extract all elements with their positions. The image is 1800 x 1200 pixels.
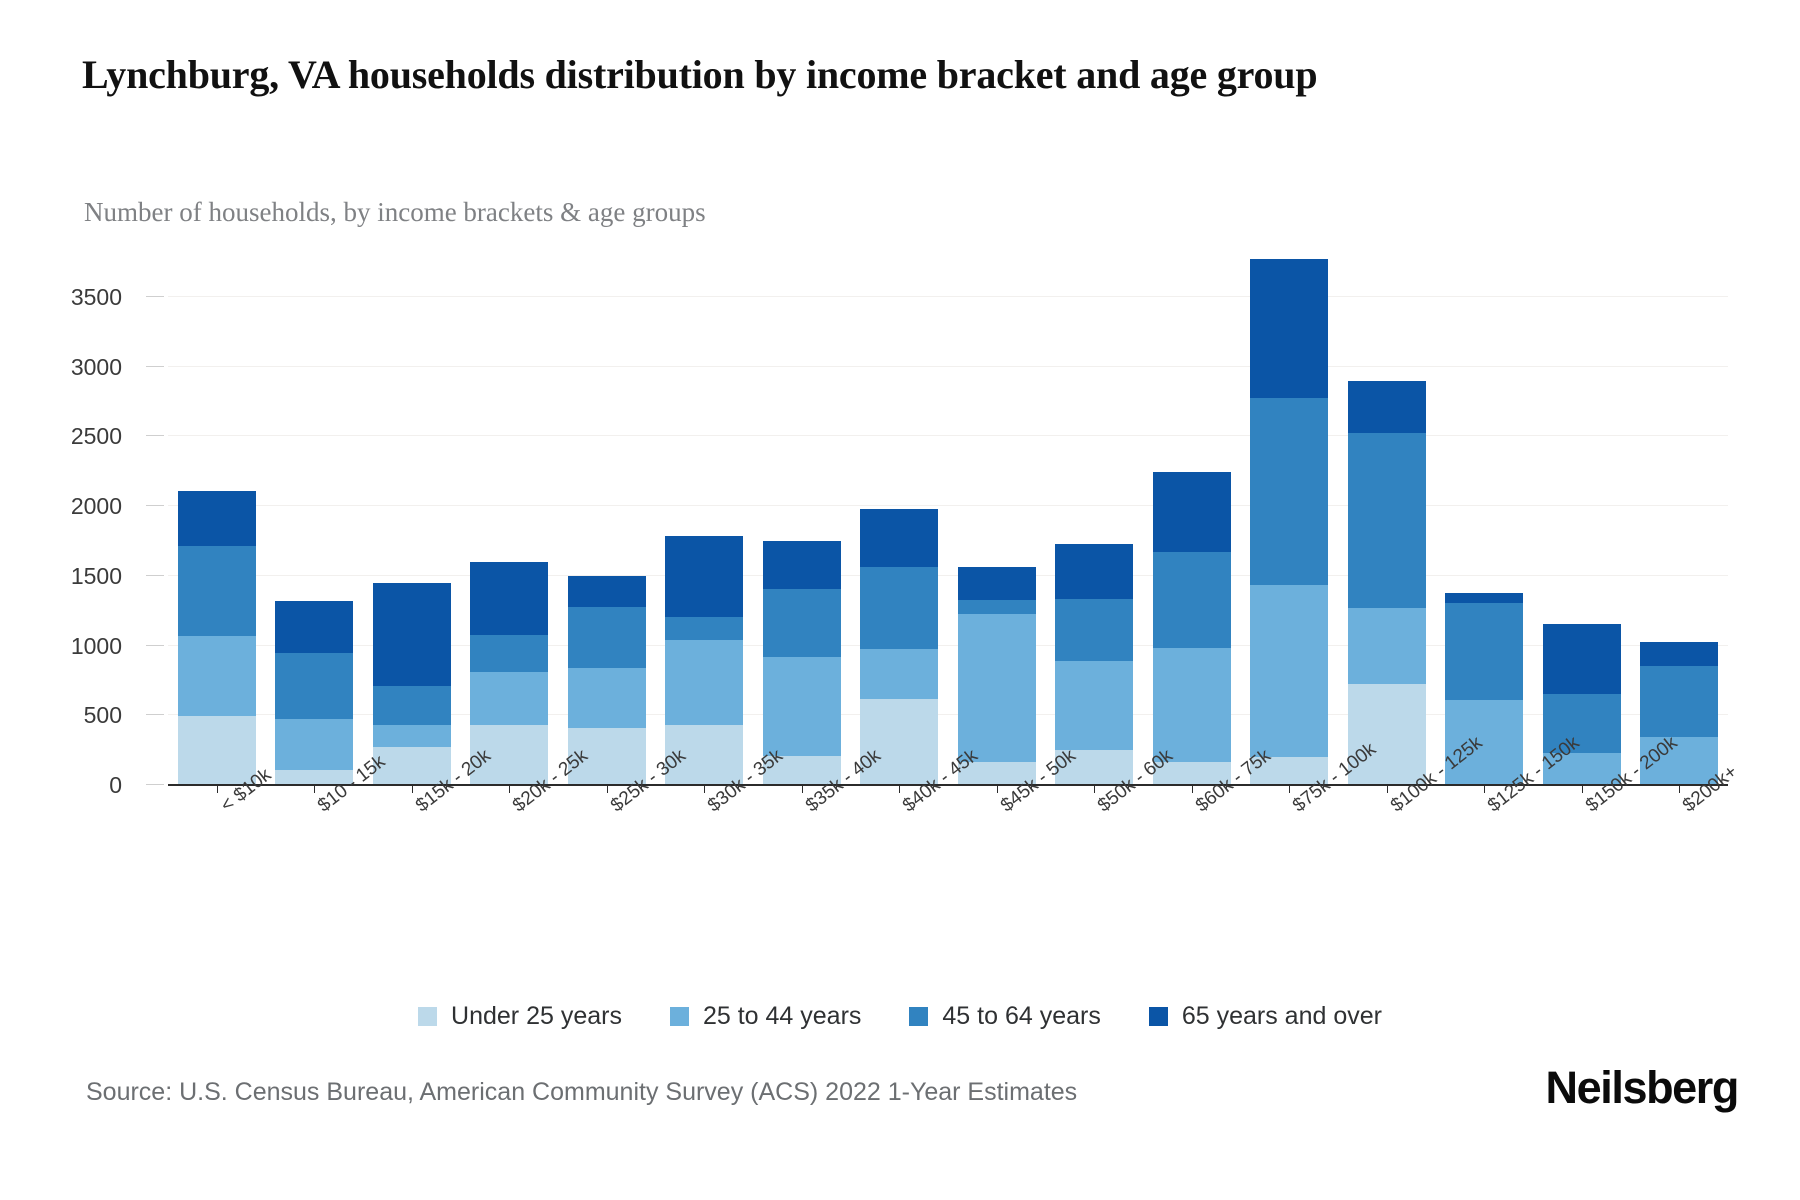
bar-stack[interactable] bbox=[275, 601, 353, 784]
y-axis-tick-mark bbox=[146, 435, 164, 436]
bar-segment[interactable] bbox=[958, 614, 1036, 762]
x-axis-tick-mark bbox=[509, 784, 510, 793]
x-axis-tick-mark bbox=[997, 784, 998, 793]
bar-segment[interactable] bbox=[1250, 398, 1328, 586]
x-axis-tick-mark bbox=[704, 784, 705, 793]
bar-segment[interactable] bbox=[860, 509, 938, 568]
bar-segment[interactable] bbox=[1153, 552, 1231, 648]
bar-segment[interactable] bbox=[275, 601, 353, 653]
bar-stack[interactable] bbox=[1153, 472, 1231, 784]
bar-stack[interactable] bbox=[1348, 381, 1426, 784]
y-axis-tick-mark bbox=[146, 645, 164, 646]
legend-swatch-icon bbox=[1149, 1007, 1168, 1026]
bar-segment[interactable] bbox=[178, 636, 256, 716]
y-axis-tick-label: 0 bbox=[2, 772, 122, 799]
y-axis-tick-label: 2500 bbox=[2, 423, 122, 450]
x-axis-tick-mark bbox=[802, 784, 803, 793]
bar-segment[interactable] bbox=[1445, 593, 1523, 603]
x-axis-tick-mark bbox=[1192, 784, 1193, 793]
bar-segment[interactable] bbox=[275, 653, 353, 719]
legend-swatch-icon bbox=[670, 1007, 689, 1026]
bar-stack[interactable] bbox=[860, 509, 938, 784]
bar-stack[interactable] bbox=[1250, 259, 1328, 784]
y-axis-tick-mark bbox=[146, 505, 164, 506]
bar-segment[interactable] bbox=[568, 607, 646, 668]
brand-logo: Neilsberg bbox=[1546, 1062, 1738, 1114]
bar-segment[interactable] bbox=[958, 600, 1036, 614]
bar-stack[interactable] bbox=[373, 583, 451, 785]
bar-segment[interactable] bbox=[1640, 642, 1718, 666]
x-axis-tick-mark bbox=[1484, 784, 1485, 793]
chart-page: Lynchburg, VA households distribution by… bbox=[0, 0, 1800, 1200]
x-axis-tick-mark bbox=[314, 784, 315, 793]
y-axis-tick-label: 3500 bbox=[2, 284, 122, 311]
bar-segment[interactable] bbox=[1153, 472, 1231, 551]
bar-segment[interactable] bbox=[1055, 544, 1133, 598]
bar-segment[interactable] bbox=[178, 491, 256, 545]
x-axis-tick-mark bbox=[1387, 784, 1388, 793]
bar-segment[interactable] bbox=[958, 567, 1036, 600]
plot-area: 0500100015002000250030003500 < $10k$10 -… bbox=[168, 268, 1728, 784]
page-title: Lynchburg, VA households distribution by… bbox=[82, 52, 1642, 98]
bar-segment[interactable] bbox=[1250, 259, 1328, 398]
y-axis-tick-mark bbox=[146, 366, 164, 367]
x-axis-tick-mark bbox=[1582, 784, 1583, 793]
chart-legend: Under 25 years25 to 44 years45 to 64 yea… bbox=[0, 1002, 1800, 1031]
y-axis-tick-mark bbox=[146, 575, 164, 576]
bar-segment[interactable] bbox=[1055, 599, 1133, 661]
chart-subtitle: Number of households, by income brackets… bbox=[84, 197, 1484, 228]
bar-series-container bbox=[168, 268, 1728, 784]
bar-segment[interactable] bbox=[860, 567, 938, 649]
legend-item[interactable]: 65 years and over bbox=[1149, 1002, 1382, 1031]
x-axis-tick-mark bbox=[412, 784, 413, 793]
x-axis-tick-mark bbox=[899, 784, 900, 793]
bar-segment[interactable] bbox=[1348, 381, 1426, 433]
bar-segment[interactable] bbox=[178, 546, 256, 637]
legend-item[interactable]: 25 to 44 years bbox=[670, 1002, 861, 1031]
legend-swatch-icon bbox=[909, 1007, 928, 1026]
bar-segment[interactable] bbox=[568, 668, 646, 727]
legend-item[interactable]: 45 to 64 years bbox=[909, 1002, 1100, 1031]
bar-segment[interactable] bbox=[178, 716, 256, 784]
y-axis-tick-mark bbox=[146, 296, 164, 297]
y-axis-tick-label: 500 bbox=[2, 702, 122, 729]
y-axis-tick-label: 1500 bbox=[2, 563, 122, 590]
source-note: Source: U.S. Census Bureau, American Com… bbox=[86, 1078, 1077, 1107]
x-axis-tick-mark bbox=[1289, 784, 1290, 793]
x-axis-tick-mark bbox=[1094, 784, 1095, 793]
x-axis-tick-mark bbox=[1679, 784, 1680, 793]
bar-segment[interactable] bbox=[1543, 624, 1621, 694]
bar-segment[interactable] bbox=[1348, 433, 1426, 607]
bar-segment[interactable] bbox=[1250, 585, 1328, 757]
bar-stack[interactable] bbox=[178, 491, 256, 784]
bar-segment[interactable] bbox=[568, 576, 646, 607]
y-axis-tick-mark bbox=[146, 714, 164, 715]
bar-segment[interactable] bbox=[275, 719, 353, 770]
bar-segment[interactable] bbox=[1055, 661, 1133, 750]
x-axis-tick-mark bbox=[217, 784, 218, 793]
y-axis-tick-label: 2000 bbox=[2, 493, 122, 520]
y-axis-tick-mark bbox=[146, 784, 164, 785]
y-axis-tick-label: 1000 bbox=[2, 633, 122, 660]
legend-label: Under 25 years bbox=[451, 1002, 622, 1031]
x-axis-tick-mark bbox=[607, 784, 608, 793]
bar-segment[interactable] bbox=[470, 672, 548, 726]
bar-segment[interactable] bbox=[665, 617, 743, 640]
bar-segment[interactable] bbox=[860, 649, 938, 699]
legend-swatch-icon bbox=[418, 1007, 437, 1026]
legend-label: 25 to 44 years bbox=[703, 1002, 861, 1031]
bar-segment[interactable] bbox=[763, 657, 841, 756]
legend-item[interactable]: Under 25 years bbox=[418, 1002, 622, 1031]
bar-segment[interactable] bbox=[763, 541, 841, 589]
bar-segment[interactable] bbox=[470, 562, 548, 635]
bar-segment[interactable] bbox=[373, 583, 451, 687]
legend-label: 45 to 64 years bbox=[942, 1002, 1100, 1031]
bar-segment[interactable] bbox=[665, 536, 743, 618]
bar-segment[interactable] bbox=[665, 640, 743, 724]
y-axis-tick-label: 3000 bbox=[2, 354, 122, 381]
bar-segment[interactable] bbox=[470, 635, 548, 672]
bar-segment[interactable] bbox=[373, 725, 451, 747]
bar-segment[interactable] bbox=[763, 589, 841, 657]
legend-label: 65 years and over bbox=[1182, 1002, 1382, 1031]
bar-segment[interactable] bbox=[1348, 608, 1426, 684]
bar-segment[interactable] bbox=[373, 686, 451, 724]
bar-segment[interactable] bbox=[1640, 666, 1718, 736]
bar-segment[interactable] bbox=[1445, 603, 1523, 700]
